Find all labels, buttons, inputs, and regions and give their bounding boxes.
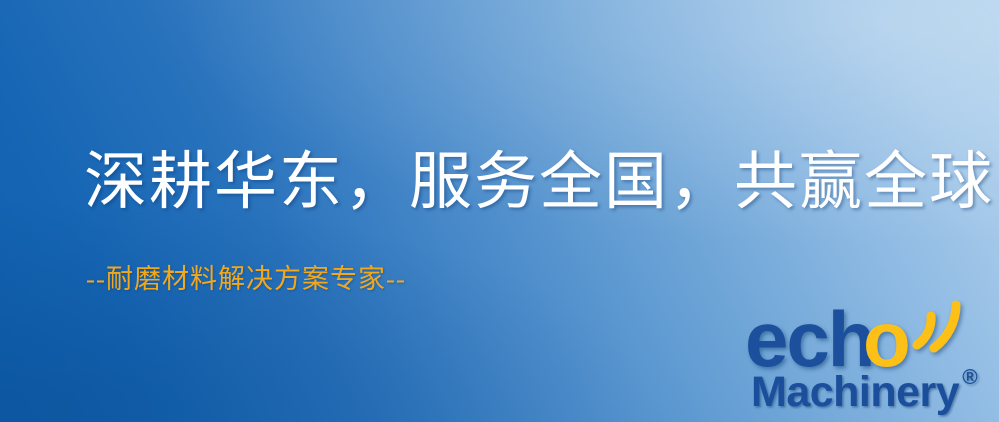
promo-banner: 深耕华东，服务全国，共赢全球 --耐磨材料解决方案专家-- ech o (0, 0, 999, 422)
signal-waves-icon (917, 305, 956, 348)
company-logo: ech o Machinery® (745, 300, 999, 422)
page-title: 深耕华东，服务全国，共赢全球 (84, 151, 994, 214)
logo-tagline-text: Machinery (751, 368, 959, 416)
page-subtitle: --耐磨材料解决方案专家-- (86, 266, 406, 293)
registered-trademark-icon: ® (962, 366, 977, 389)
logo-tagline: Machinery® (751, 366, 977, 417)
